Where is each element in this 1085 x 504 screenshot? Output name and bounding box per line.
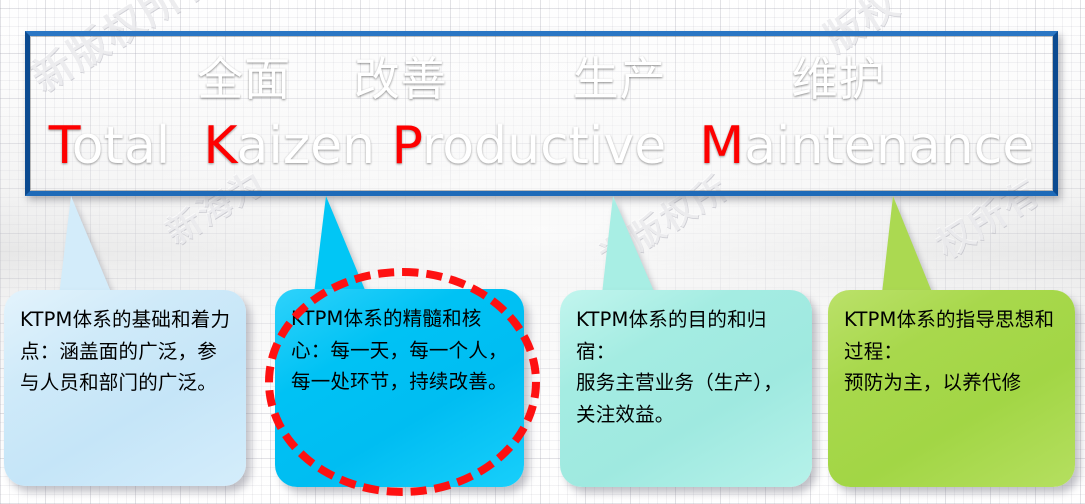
banner-chinese-title: 全面 改善 生产 维护 [30, 55, 1053, 103]
banner-english-segment-2: K [203, 116, 236, 176]
callout-tail-guiding-principle [881, 196, 936, 302]
callout-text-foundation: KTPM体系的基础和着力点：涵盖面的广泛，参与人员和部门的广泛。 [20, 304, 234, 399]
banner-english-segment-3: aizen [237, 116, 392, 176]
callout-tail-essence [313, 196, 370, 302]
banner-english-segment-0: T [49, 116, 72, 176]
banner-english-segment-6: M [699, 116, 744, 176]
title-banner-inner: 全面 改善 生产 维护 Total Kaizen Productive Main… [30, 55, 1053, 171]
callout-box-foundation[interactable]: KTPM体系的基础和着力点：涵盖面的广泛，参与人员和部门的广泛。 [4, 290, 246, 486]
callout-box-guiding-principle[interactable]: KTPM体系的指导思想和过程： 预防为主，以养代修 [828, 290, 1075, 487]
callout-text-guiding-principle: KTPM体系的指导思想和过程： 预防为主，以养代修 [844, 304, 1063, 399]
banner-english-segment-1: otal [72, 116, 204, 176]
callout-box-purpose[interactable]: KTPM体系的目的和归宿： 服务主营业务（生产），关注效益。 [560, 290, 812, 487]
callout-text-purpose: KTPM体系的目的和归宿： 服务主营业务（生产），关注效益。 [576, 304, 800, 430]
banner-english-segment-4: P [392, 116, 422, 176]
title-banner: 全面 改善 生产 维护 Total Kaizen Productive Main… [25, 31, 1058, 196]
callout-tail-foundation [58, 196, 116, 304]
banner-english-title: Total Kaizen Productive Maintenance [30, 120, 1053, 172]
callout-box-essence[interactable]: KTPM体系的精髓和核心：每一天，每一个人，每一处环节，持续改善。 [275, 289, 524, 487]
slide-canvas: 新版权所有 新海为 为版权所 权所有 版权 有 所 全面 改善 生产 维护 To… [0, 0, 1085, 504]
banner-english-segment-5: roductive [422, 116, 699, 176]
banner-english-segment-7: aintenance [744, 116, 1034, 176]
callout-tail-purpose [601, 196, 659, 303]
callout-text-essence: KTPM体系的精髓和核心：每一天，每一个人，每一处环节，持续改善。 [291, 303, 512, 398]
